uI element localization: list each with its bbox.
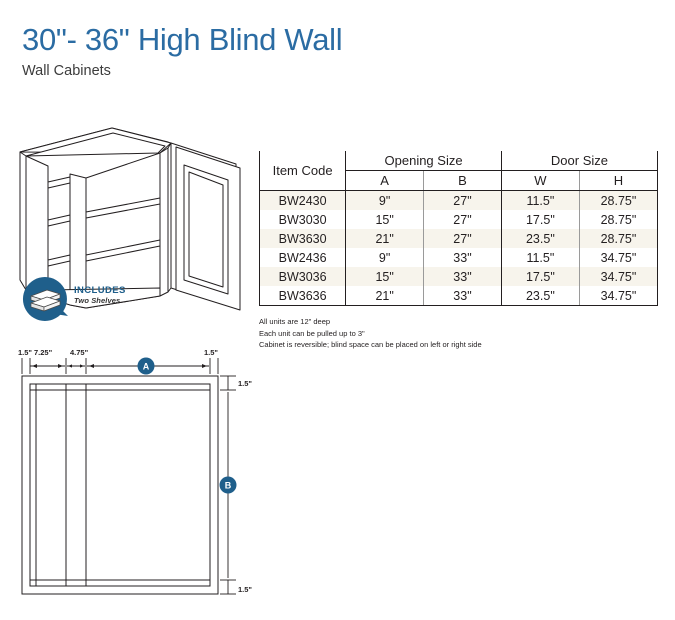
cell-h: 28.75"	[579, 210, 657, 229]
table-body: BW2430 9" 27" 11.5" 28.75" BW3030 15" 27…	[260, 191, 658, 306]
header-col-w: W	[501, 171, 579, 191]
cell-b: 33"	[424, 286, 502, 306]
includes-sub-label: Two Shelves	[74, 297, 126, 306]
dim-label-top-right: 1.5"	[204, 348, 218, 357]
cell-item-code: BW2430	[260, 191, 346, 211]
dimension-marker-a-label: A	[143, 362, 150, 372]
footnote-pull: Each unit can be pulled up to 3"	[259, 328, 482, 340]
includes-text-group: INCLUDES Two Shelves	[74, 286, 126, 306]
dim-label-top-3: 4.75"	[70, 348, 89, 357]
specification-table-container: Item Code Opening Size Door Size A B W H…	[259, 151, 658, 306]
cell-b: 27"	[424, 191, 502, 211]
footnotes: All units are 12" deep Each unit can be …	[259, 316, 482, 351]
header-col-h: H	[579, 171, 657, 191]
table-row: BW3030 15" 27" 17.5" 28.75"	[260, 210, 658, 229]
dim-label-right-top: 1.5"	[238, 379, 252, 388]
footnote-reversible: Cabinet is reversible; blind space can b…	[259, 339, 482, 351]
cell-w: 23.5"	[501, 286, 579, 306]
cell-h: 28.75"	[579, 191, 657, 211]
cell-a: 9"	[346, 191, 424, 211]
dimension-marker-b-label: B	[225, 481, 232, 491]
cell-w: 17.5"	[501, 210, 579, 229]
table-group-header-row: Item Code Opening Size Door Size	[260, 151, 658, 171]
cell-a: 15"	[346, 267, 424, 286]
cell-w: 11.5"	[501, 191, 579, 211]
header-item-code: Item Code	[260, 151, 346, 191]
specification-table: Item Code Opening Size Door Size A B W H…	[259, 151, 658, 306]
cell-w: 23.5"	[501, 229, 579, 248]
table-row: BW3636 21" 33" 23.5" 34.75"	[260, 286, 658, 306]
cell-a: 21"	[346, 229, 424, 248]
table-row: BW2430 9" 27" 11.5" 28.75"	[260, 191, 658, 211]
dim-label-top-2: 7.25"	[34, 348, 53, 357]
front-elevation-drawing: 1.5" 7.25" 4.75" 1.5" A 1.5" 1.5" B	[8, 344, 258, 614]
table-head: Item Code Opening Size Door Size A B W H	[260, 151, 658, 191]
title-block: 30"- 36" High Blind Wall Wall Cabinets	[22, 24, 342, 79]
cell-a: 15"	[346, 210, 424, 229]
table-row: BW2436 9" 33" 11.5" 34.75"	[260, 248, 658, 267]
page-subtitle: Wall Cabinets	[22, 63, 342, 79]
cell-a: 9"	[346, 248, 424, 267]
cell-w: 17.5"	[501, 267, 579, 286]
cell-a: 21"	[346, 286, 424, 306]
cell-b: 33"	[424, 267, 502, 286]
header-door-size: Door Size	[501, 151, 657, 171]
cell-h: 34.75"	[579, 286, 657, 306]
cell-item-code: BW2436	[260, 248, 346, 267]
page-title: 30"- 36" High Blind Wall	[22, 24, 342, 57]
header-opening-size: Opening Size	[346, 151, 502, 171]
cell-b: 27"	[424, 229, 502, 248]
cell-h: 28.75"	[579, 229, 657, 248]
header-col-a: A	[346, 171, 424, 191]
cell-b: 33"	[424, 248, 502, 267]
cell-item-code: BW3030	[260, 210, 346, 229]
cell-h: 34.75"	[579, 248, 657, 267]
dim-label-right-bottom: 1.5"	[238, 585, 252, 594]
includes-badge: INCLUDES Two Shelves	[22, 276, 162, 322]
header-col-b: B	[424, 171, 502, 191]
table-row: BW3630 21" 27" 23.5" 28.75"	[260, 229, 658, 248]
cell-item-code: BW3036	[260, 267, 346, 286]
cell-item-code: BW3630	[260, 229, 346, 248]
footnote-depth: All units are 12" deep	[259, 316, 482, 328]
cell-h: 34.75"	[579, 267, 657, 286]
dim-label-top-1: 1.5"	[18, 348, 32, 357]
table-row: BW3036 15" 33" 17.5" 34.75"	[260, 267, 658, 286]
elevation-line-art-icon: 1.5" 7.25" 4.75" 1.5" A 1.5" 1.5" B	[8, 344, 258, 614]
stacked-shelves-icon	[22, 276, 68, 322]
cell-w: 11.5"	[501, 248, 579, 267]
cell-b: 27"	[424, 210, 502, 229]
cell-item-code: BW3636	[260, 286, 346, 306]
